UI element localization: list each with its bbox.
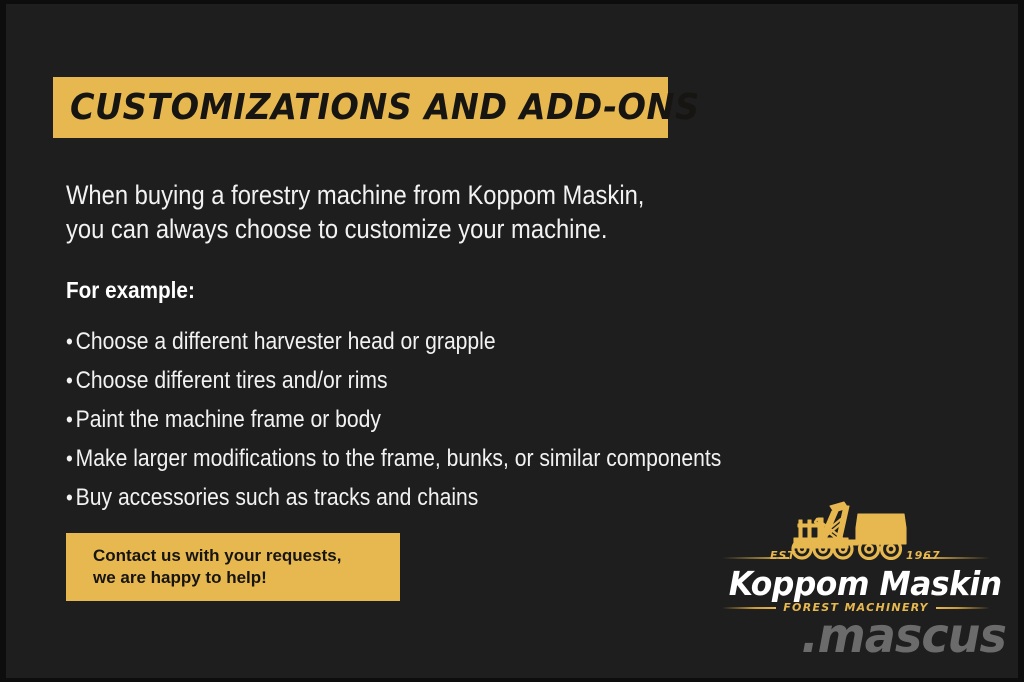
slide-canvas: CUSTOMIZATIONS AND ADD-ONS When buying a… <box>0 0 1024 682</box>
list-item-label: Buy accessories such as tracks and chain… <box>76 478 479 517</box>
bullet-dot-icon: • <box>66 439 76 478</box>
list-item-label: Choose different tires and/or rims <box>76 361 388 400</box>
intro-line-1: When buying a forestry machine from Kopp… <box>66 178 682 212</box>
frame-edge-right <box>1018 0 1024 682</box>
bullet-dot-icon: • <box>66 478 76 517</box>
intro-line-2: you can always choose to customize your … <box>66 212 682 246</box>
bullet-dot-icon: • <box>66 322 76 361</box>
logo-wordmark: Koppom Maskin <box>729 564 984 603</box>
contact-cta-box[interactable]: Contact us with your requests, we are ha… <box>66 533 400 601</box>
list-item-label: Paint the machine frame or body <box>76 400 381 439</box>
list-item: • Make larger modifications to the frame… <box>66 439 721 478</box>
frame-edge-bottom <box>0 678 1024 682</box>
frame-edge-left <box>0 0 6 682</box>
page-title: CUSTOMIZATIONS AND ADD-ONS <box>70 87 700 128</box>
intro-paragraph: When buying a forestry machine from Kopp… <box>66 178 682 246</box>
list-item: • Paint the machine frame or body <box>66 400 721 439</box>
bullet-dot-icon: • <box>66 400 76 439</box>
list-item: • Buy accessories such as tracks and cha… <box>66 478 721 517</box>
list-item: • Choose different tires and/or rims <box>66 361 721 400</box>
list-item: • Choose a different harvester head or g… <box>66 322 721 361</box>
customization-options-list: • Choose a different harvester head or g… <box>66 322 721 517</box>
contact-cta-line-1: Contact us with your requests, <box>93 545 400 567</box>
mascus-watermark: .mascus <box>754 613 1006 659</box>
logo-year-label: 1967 <box>906 549 941 562</box>
logo-est-label: EST <box>770 549 796 562</box>
frame-edge-top <box>0 0 1024 4</box>
logo-tagline-rule-left <box>722 607 776 609</box>
list-item-label: Choose a different harvester head or gra… <box>76 322 496 361</box>
for-example-label: For example: <box>66 277 195 304</box>
contact-cta-line-2: we are happy to help! <box>93 567 400 589</box>
bullet-dot-icon: • <box>66 361 76 400</box>
koppom-maskin-logo: EST 1967 Koppom Maskin FOREST MACHINERY <box>722 498 990 608</box>
list-item-label: Make larger modifications to the frame, … <box>76 439 722 478</box>
title-banner: CUSTOMIZATIONS AND ADD-ONS <box>53 77 668 138</box>
